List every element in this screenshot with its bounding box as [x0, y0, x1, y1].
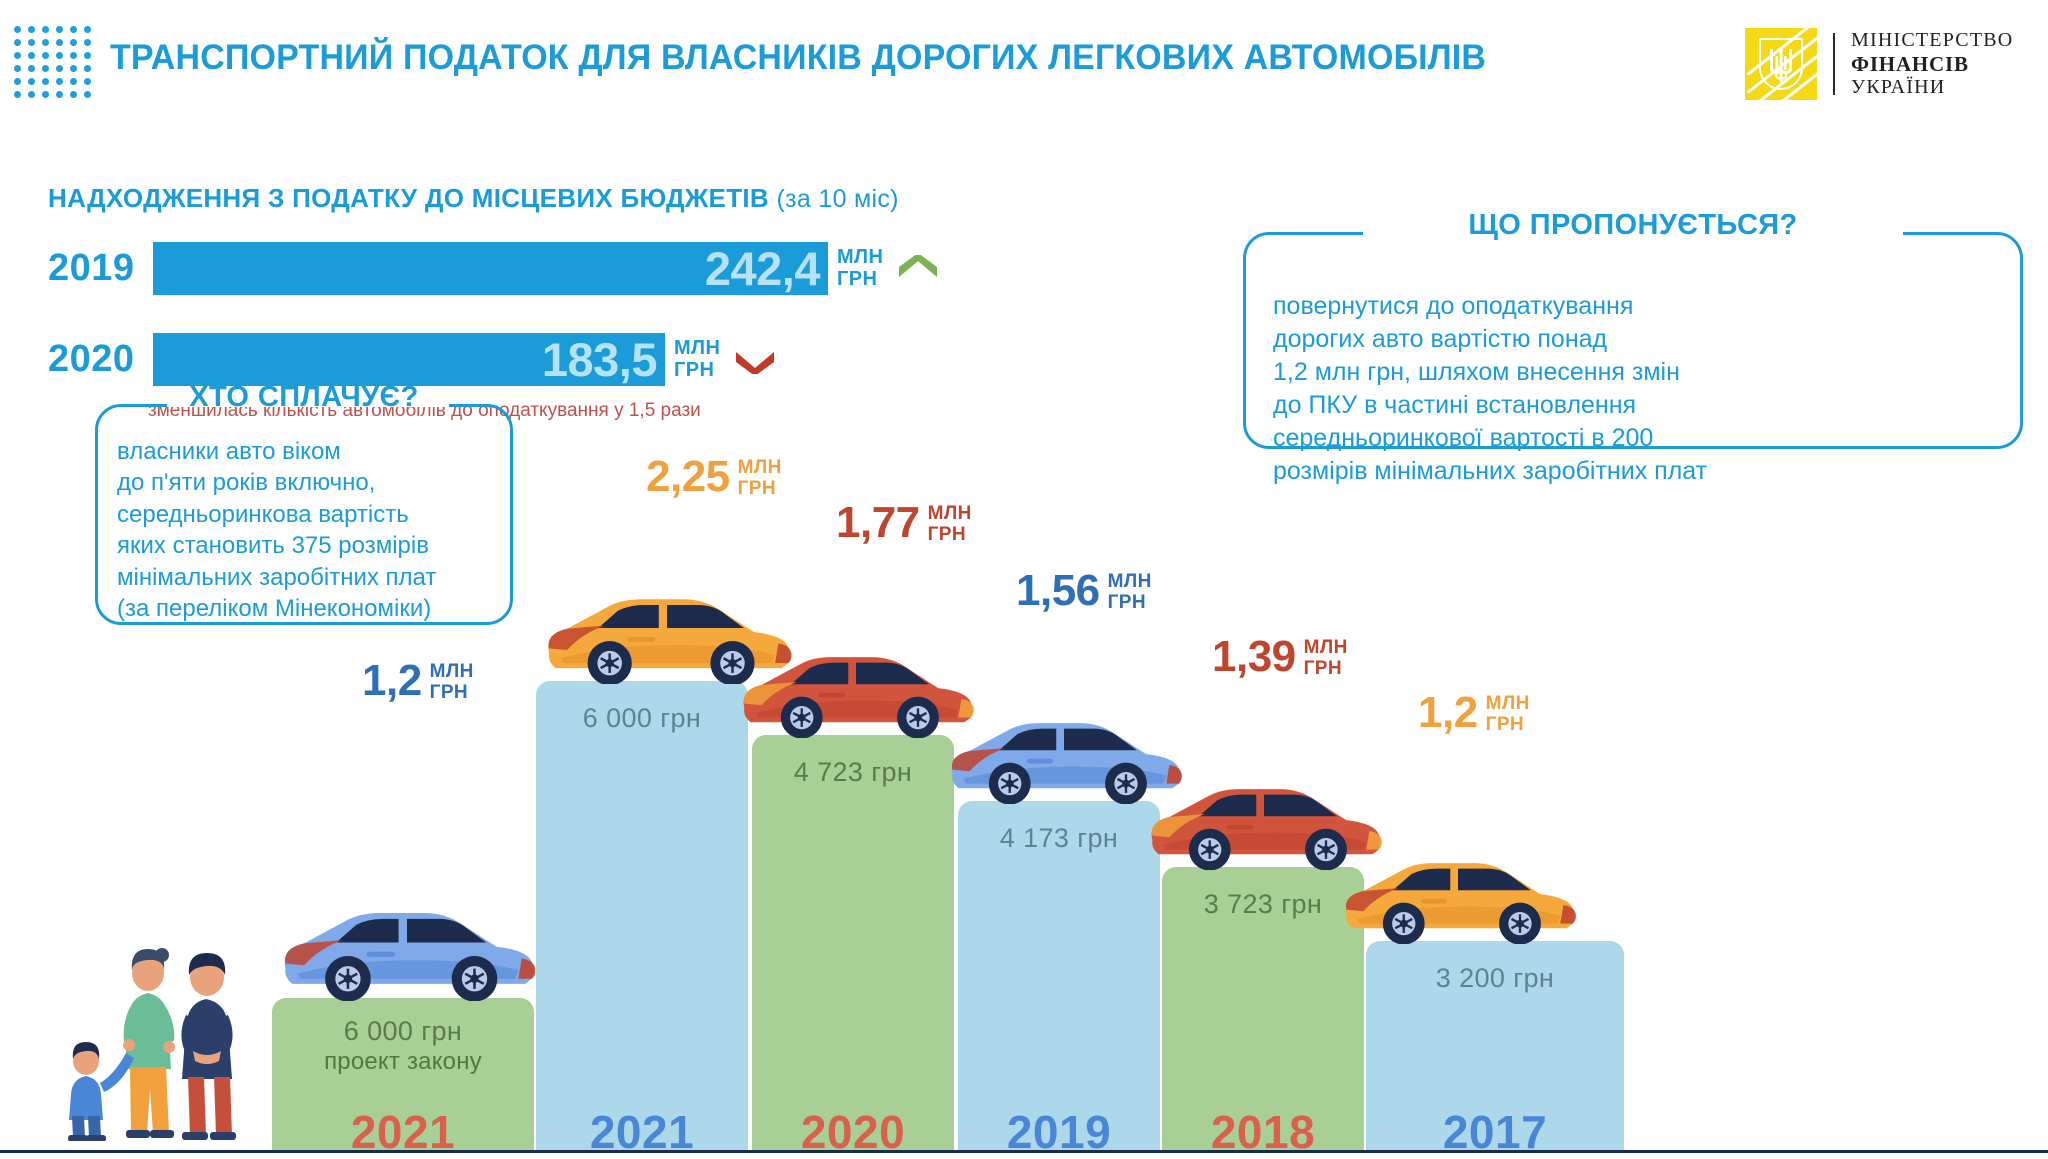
- dot: [56, 52, 63, 59]
- dot: [70, 26, 77, 33]
- trident-icon: [1745, 28, 1817, 100]
- threshold-value: 1,39: [1212, 636, 1296, 678]
- dot: [70, 39, 77, 46]
- dot: [28, 65, 35, 72]
- child-figure: [68, 1042, 134, 1141]
- dot: [56, 39, 63, 46]
- dot: [42, 91, 49, 98]
- dot: [28, 78, 35, 85]
- threshold-label-3: 1,77МЛНГРН: [836, 502, 972, 546]
- revenue-value-2019: 242,4: [705, 245, 820, 292]
- threshold-value: 2,25: [646, 456, 730, 498]
- coat-of-arms-icon: [1745, 28, 1817, 100]
- dot: [42, 26, 49, 33]
- threshold-unit: МЛНГРН: [1486, 694, 1530, 736]
- threshold-unit: МЛНГРН: [928, 504, 972, 546]
- bar-amount-label: 6 000 грн: [536, 703, 748, 734]
- dot: [70, 65, 77, 72]
- dot: [56, 78, 63, 85]
- trend-up-icon: [896, 255, 940, 283]
- callout-title-who-pays: ХТО СПЛАЧУЄ?: [95, 381, 513, 414]
- callout-what-proposed: ЩО ПРОПОНУЄТЬСЯ? повернутися до оподатку…: [1243, 232, 2023, 449]
- threshold-label-1: 1,2МЛНГРН: [362, 660, 474, 704]
- threshold-label-2: 2,25МЛНГРН: [646, 456, 782, 500]
- revenue-unit-2019: МЛН ГРН: [837, 247, 883, 290]
- dot: [28, 52, 35, 59]
- threshold-label-6: 1,2МЛНГРН: [1418, 692, 1530, 736]
- dot: [56, 91, 63, 98]
- dot: [70, 91, 77, 98]
- dot: [70, 78, 77, 85]
- revenue-value-2020: 183,5: [542, 336, 657, 383]
- dot: [84, 26, 91, 33]
- dot: [14, 39, 21, 46]
- dot: [70, 52, 77, 59]
- revenue-row-2020: 2020 183,5 МЛН ГРН: [48, 333, 777, 386]
- chart-column-4: 4 173 грн2019: [958, 801, 1160, 1153]
- revenue-bar-2020: 183,5: [153, 333, 665, 386]
- revenue-title-sub: (за 10 міс): [777, 185, 899, 213]
- threshold-unit: МЛНГРН: [1304, 638, 1348, 680]
- threshold-unit: МЛНГРН: [1108, 572, 1152, 614]
- revenue-bar-2019: 242,4: [153, 242, 828, 295]
- chart-column-1: 6 000 грнпроект закону2021: [272, 998, 534, 1153]
- dot: [42, 78, 49, 85]
- dot: [84, 78, 91, 85]
- dot: [42, 65, 49, 72]
- logo-divider: [1833, 33, 1835, 95]
- dot: [28, 39, 35, 46]
- dot: [84, 39, 91, 46]
- unit-mln: МЛН: [837, 247, 883, 269]
- revenue-year-2019: 2019: [48, 247, 153, 290]
- bar-2020-3: [752, 735, 954, 1153]
- bar-sublabel: проект закону: [272, 1048, 534, 1076]
- revenue-section-title: НАДХОДЖЕННЯ З ПОДАТКУ ДО МІСЦЕВИХ БЮДЖЕТ…: [48, 183, 899, 214]
- threshold-value: 1,2: [1418, 692, 1478, 734]
- car-illustration-blue: [272, 891, 542, 1006]
- woman-figure: [123, 948, 175, 1138]
- dot: [56, 65, 63, 72]
- dot-grid-decoration: [14, 26, 92, 98]
- threshold-value: 1,56: [1016, 570, 1100, 612]
- dot: [14, 52, 21, 59]
- revenue-year-2020: 2020: [48, 338, 153, 381]
- threshold-value: 1,77: [836, 502, 920, 544]
- unit-grn: ГРН: [837, 269, 883, 291]
- unit-mln: МЛН: [674, 338, 720, 360]
- revenue-title-main: НАДХОДЖЕННЯ З ПОДАТКУ ДО МІСЦЕВИХ БЮДЖЕТ…: [48, 183, 769, 213]
- threshold-label-5: 1,39МЛНГРН: [1212, 636, 1348, 680]
- dot: [56, 26, 63, 33]
- threshold-label-4: 1,56МЛНГРН: [1016, 570, 1152, 614]
- trend-down-icon: [733, 346, 777, 374]
- dot: [28, 26, 35, 33]
- threshold-unit: МЛНГРН: [738, 458, 782, 500]
- bar-amount-label: 4 173 грн: [958, 823, 1160, 854]
- dot: [14, 78, 21, 85]
- logo-line-1: МІНІСТЕРСТВО: [1851, 29, 2013, 52]
- bar-amount-label: 4 723 грн: [752, 757, 954, 788]
- bar-2021-2: [536, 681, 748, 1153]
- dot: [84, 91, 91, 98]
- chart-column-2: 6 000 грн2021: [536, 681, 748, 1153]
- logo-line-3: УКРАЇНИ: [1851, 76, 2013, 99]
- dot: [28, 91, 35, 98]
- dot: [42, 39, 49, 46]
- ministry-logo: МІНІСТЕРСТВО ФІНАНСІВ УКРАЇНИ: [1745, 28, 2013, 100]
- unit-grn: ГРН: [674, 360, 720, 382]
- chart-column-6: 3 200 грн2017: [1366, 941, 1624, 1153]
- man-figure: [181, 953, 236, 1140]
- car-illustration-orange: [1334, 843, 1582, 949]
- dot: [42, 52, 49, 59]
- bar-amount-label: 6 000 грн: [272, 1016, 534, 1047]
- bar-amount-label: 3 200 грн: [1366, 963, 1624, 994]
- threshold-unit: МЛНГРН: [430, 662, 474, 704]
- callout-title-what-proposed: ЩО ПРОПОНУЄТЬСЯ?: [1243, 209, 2023, 242]
- dot: [84, 65, 91, 72]
- dot: [14, 26, 21, 33]
- dot: [14, 91, 21, 98]
- family-illustration: [30, 911, 270, 1141]
- chart-column-3: 4 723 грн2020: [752, 735, 954, 1153]
- dot: [84, 52, 91, 59]
- revenue-row-2019: 2019 242,4 МЛН ГРН: [48, 242, 940, 295]
- dot: [14, 65, 21, 72]
- stair-step-chart: 6 000 грнпроект закону2021: [0, 440, 2048, 1153]
- page-title: ТРАНСПОРТНИЙ ПОДАТОК ДЛЯ ВЛАСНИКІВ ДОРОГ…: [110, 38, 1486, 78]
- infographic-canvas: ТРАНСПОРТНИЙ ПОДАТОК ДЛЯ ВЛАСНИКІВ ДОРОГ…: [0, 0, 2048, 1153]
- logo-line-2: ФІНАНСІВ: [1851, 52, 2013, 76]
- threshold-value: 1,2: [362, 660, 422, 702]
- revenue-unit-2020: МЛН ГРН: [674, 338, 720, 381]
